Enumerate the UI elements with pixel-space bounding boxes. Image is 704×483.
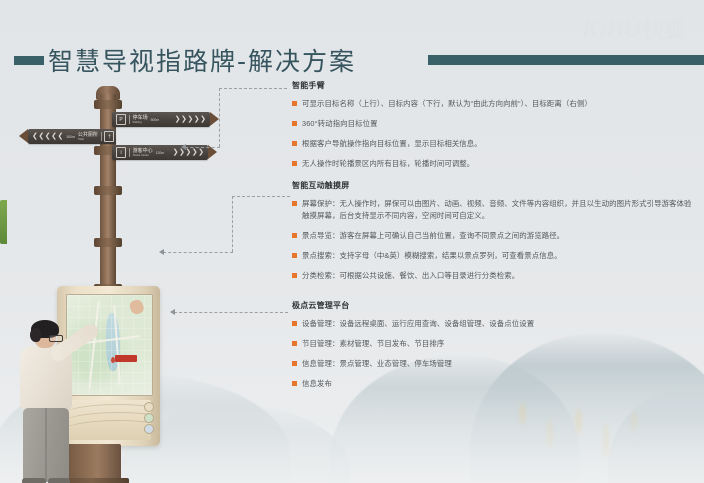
- connector-1-arrow: [181, 144, 186, 150]
- title-accent-bar: [428, 55, 704, 65]
- bullet-text: 可显示目标名称（上行）、目标内容（下行，默认为“由此方向向前“）、目标距离（右侧…: [302, 98, 592, 110]
- kiosk-badge-1: [144, 402, 154, 412]
- bullet-marker: [292, 161, 297, 166]
- title-row: 智慧导视指路牌-解决方案: [0, 44, 704, 78]
- arm-tip-right-1: [210, 112, 219, 126]
- bullet-row: 分类检索：可根据公共设施、餐饮、出入口等目录进行分类检索。: [292, 270, 696, 282]
- bullet-row: 信息管理：景点管理、业态管理、停车场管理: [292, 358, 696, 370]
- bullet-text: 根据客户导航操作指向目标位置，显示目标相关信息。: [302, 138, 482, 150]
- bullet-marker: [292, 321, 297, 326]
- bullet-marker: [292, 253, 297, 258]
- section-heading-1: 智能手臂: [292, 80, 696, 91]
- connector-2-vert: [232, 196, 233, 252]
- mountain-shape-e: [608, 387, 704, 483]
- bullet-row: 景点导览：游客在屏幕上可确认自己当前位置，查询不同景点之间的游览路径。: [292, 230, 696, 242]
- bullet-row: 根据客户导航操作指向目标位置，显示目标相关信息。: [292, 138, 696, 150]
- person-hair-side: [30, 328, 41, 342]
- person-shoe-right: [48, 478, 70, 483]
- arm-label-en-3: Tourist Center: [133, 154, 153, 157]
- bullet-row: 设备管理：设备远程桌面、运行应用查询、设备组管理、设备点位设置: [292, 318, 696, 330]
- bullet-text: 景点导览：游客在屏幕上可确认自己当前位置，查询不同景点之间的游览路径。: [302, 230, 564, 242]
- bullet-marker: [292, 141, 297, 146]
- sign-arm-parking: P 停车场 Parking 500m ❯❯❯❯❯: [112, 112, 210, 127]
- bullet-row: 节目管理：素材管理、节目发布、节目排序: [292, 338, 696, 350]
- arm-distance-3: 120m: [156, 151, 164, 155]
- pole-band-4: [94, 238, 122, 247]
- connector-3-arrow: [170, 309, 175, 315]
- bullet-row: 可显示目标名称（上行）、目标内容（下行，默认为“由此方向向前“）、目标距离（右侧…: [292, 98, 696, 110]
- bullet-text: 分类检索：可根据公共设施、餐饮、出入口等目录进行分类检索。: [302, 270, 519, 282]
- section-cloud-platform: 极点云管理平台 设备管理：设备远程桌面、运行应用查询、设备组管理、设备点位设置 …: [292, 300, 696, 398]
- brand-logo-latin: KiHU: [583, 16, 641, 42]
- bullet-text: 设备管理：设备远程桌面、运行应用查询、设备组管理、设备点位设置: [302, 318, 534, 330]
- info-icon: i: [116, 147, 126, 158]
- bullet-marker: [292, 101, 297, 106]
- connector-1-vert: [219, 88, 220, 147]
- person-leg-split: [45, 408, 47, 482]
- bullet-text: 节目管理：素材管理、节目发布、节目排序: [302, 338, 444, 350]
- arm-label-en-1: Parking: [133, 121, 148, 124]
- bullet-text: 信息管理：景点管理、业态管理、停车场管理: [302, 358, 452, 370]
- arm-divider-1: [129, 115, 130, 124]
- kiosk-badge-2: [144, 413, 154, 423]
- sign-arm-restroom: ❯❯❯❯❯ 300m 公共厕所 Toilet †: [28, 129, 116, 144]
- bullet-text: 360°转动指向目标位置: [302, 118, 378, 130]
- connector-1-top: [219, 88, 287, 89]
- section-heading-2: 智能互动触摸屏: [292, 180, 696, 191]
- bullet-row: 景点搜索：支持字母（中&英）模糊搜索，结果以景点罗列，可查看景点信息。: [292, 250, 696, 262]
- kiosk-badge-3: [144, 424, 154, 434]
- bullet-marker: [292, 273, 297, 278]
- parking-icon: P: [116, 114, 126, 125]
- page-title: 智慧导视指路牌-解决方案: [48, 42, 356, 78]
- mountain-light-4: [604, 423, 608, 457]
- title-accent-square: [14, 56, 44, 65]
- pole-band-1: [94, 100, 122, 109]
- bullet-row: 360°转动指向目标位置: [292, 118, 696, 130]
- person-legs: [23, 408, 69, 482]
- connector-3-lead: [174, 312, 288, 313]
- bullet-row: 信息发布: [292, 378, 696, 390]
- bullet-marker: [292, 121, 297, 126]
- bullet-text: 景点搜索：支持字母（中&英）模糊搜索，结果以景点罗列，可查看景点信息。: [302, 250, 562, 262]
- bullet-marker: [292, 201, 297, 206]
- bullet-text: 无人操作时轮播景区内所有目标，轮播时间可调整。: [302, 158, 474, 170]
- connector-2-lead: [163, 252, 233, 253]
- bullet-text: 信息发布: [302, 378, 332, 390]
- section-touchscreen: 智能互动触摸屏 屏幕保护：无人操作时，屏保可以由图片、动画、视频、音频、文件等内…: [292, 180, 696, 290]
- person-figure: [8, 322, 86, 483]
- signpost-illustration: P 停车场 Parking 500m ❯❯❯❯❯ ❯❯❯❯❯ 300m: [0, 86, 250, 483]
- bullet-text: 屏幕保护：无人操作时，屏保可以由图片、动画、视频、音频、文件等内容组织，并且以生…: [302, 198, 696, 222]
- arm-chevrons-3: ❯❯❯❯❯: [173, 149, 204, 156]
- arm-tip-left-2: [19, 129, 28, 143]
- bullet-marker: [292, 341, 297, 346]
- arm-chevrons-2: ❯❯❯❯❯: [32, 133, 63, 140]
- slide-root: KiHU快狐 智慧导视指路牌-解决方案 P 停车场 Parking 500m: [0, 0, 704, 483]
- mountain-light-2: [548, 419, 552, 449]
- bullet-marker: [292, 233, 297, 238]
- arm-label-en-2: Toilet: [78, 138, 98, 141]
- connector-2-top: [232, 196, 290, 197]
- bullet-row: 无人操作时轮播景区内所有目标，轮播时间可调整。: [292, 158, 696, 170]
- section-heading-3: 极点云管理平台: [292, 300, 696, 311]
- brand-logo-cn: 快狐: [643, 19, 686, 42]
- connector-2-arrow: [159, 249, 164, 255]
- brand-logo: KiHU快狐: [583, 18, 686, 41]
- mountain-light-1: [520, 403, 525, 425]
- map-callout: [115, 355, 137, 362]
- person-shoe-left: [22, 478, 46, 483]
- pole-band-3: [94, 186, 122, 195]
- connector-1-lead: [185, 147, 220, 148]
- arm-chevrons-1: ❯❯❯❯❯: [175, 116, 206, 123]
- kiosk-side-accent: [0, 200, 7, 244]
- restroom-icon: †: [104, 131, 114, 142]
- bullet-row: 屏幕保护：无人操作时，屏保可以由图片、动画、视频、音频、文件等内容组织，并且以生…: [292, 198, 696, 222]
- arm-distance-1: 500m: [151, 118, 159, 122]
- arm-divider-2: [101, 132, 102, 141]
- section-smart-arm: 智能手臂 可显示目标名称（上行）、目标内容（下行，默认为“由此方向向前“）、目标…: [292, 80, 696, 178]
- mountain-light-3: [576, 409, 581, 435]
- arm-distance-2: 300m: [66, 135, 74, 139]
- mountain-light-5: [632, 411, 636, 431]
- arm-divider-3: [129, 148, 130, 157]
- bullet-marker: [292, 381, 297, 386]
- bullet-marker: [292, 361, 297, 366]
